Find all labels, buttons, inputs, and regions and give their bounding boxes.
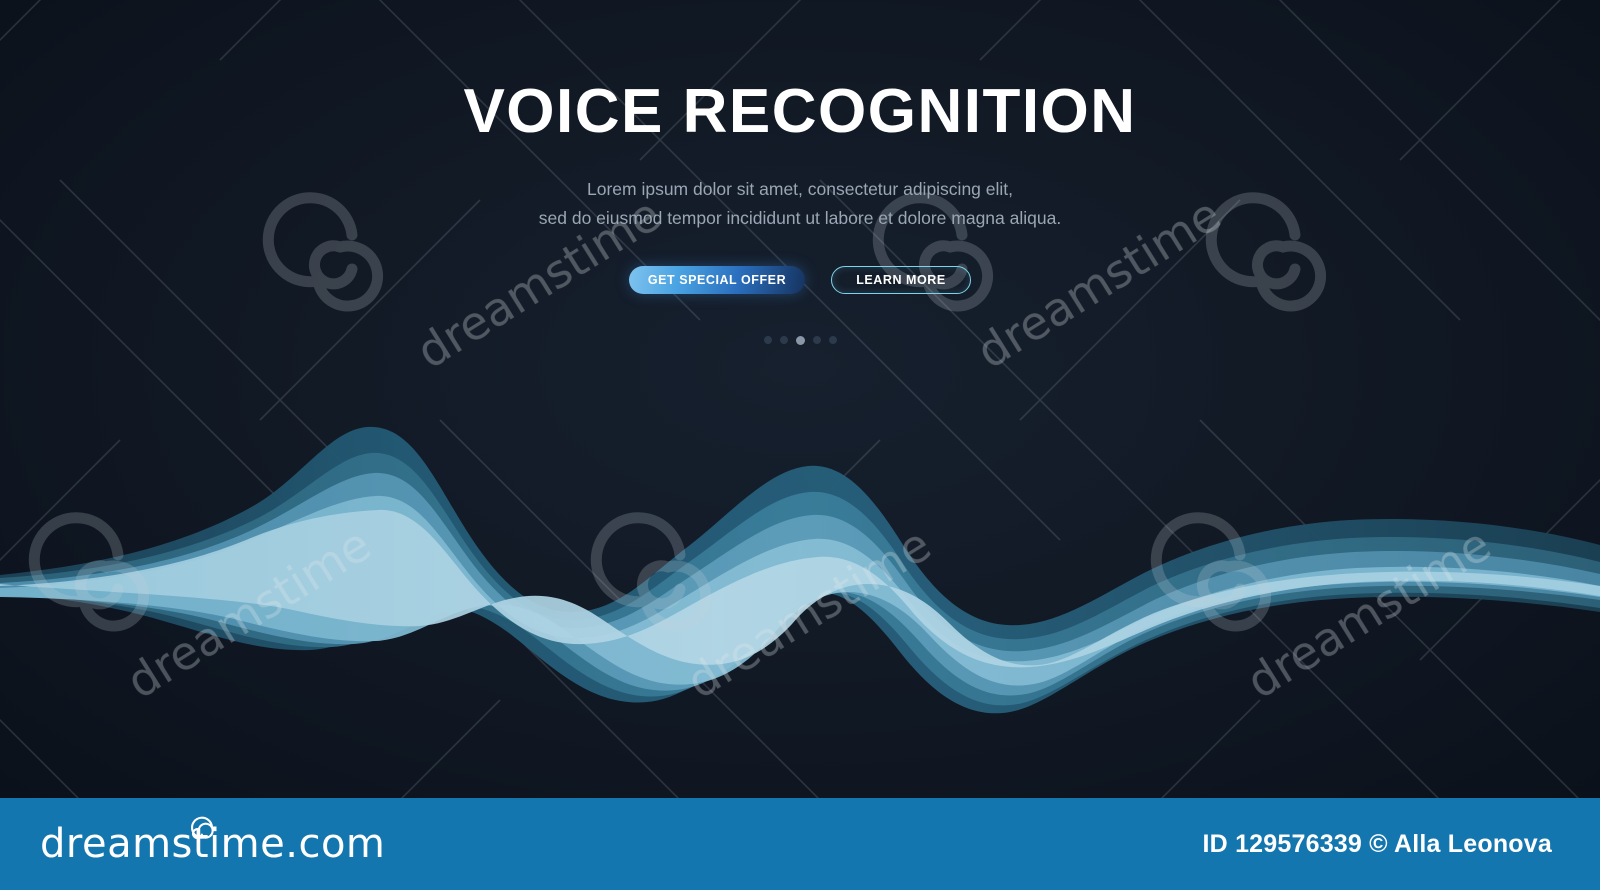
dreamstime-logo[interactable]: dreamstime.com — [40, 821, 385, 867]
hero-subtitle: Lorem ipsum dolor sit amet, consectetur … — [0, 175, 1600, 232]
carousel-dot-2[interactable] — [780, 336, 788, 344]
get-special-offer-button[interactable]: GET SPECIAL OFFER — [629, 266, 805, 294]
carousel-dot-1[interactable] — [764, 336, 772, 344]
hero-section: dreamstime dreamstime dreamstime dreamst… — [0, 0, 1600, 798]
wave-layer-back — [0, 427, 1600, 713]
watermark-text: dreamstime — [677, 517, 940, 709]
carousel-dots — [0, 336, 1600, 345]
watermark-text: dreamstime — [1237, 517, 1500, 709]
wave-layer-mid-dark — [0, 453, 1600, 705]
wave-layer-light — [0, 496, 1600, 686]
hero-copy: VOICE RECOGNITION Lorem ipsum dolor sit … — [0, 0, 1600, 345]
carousel-dot-4[interactable] — [813, 336, 821, 344]
image-credit: ID 129576339 © Alla Leonova — [1203, 830, 1552, 859]
carousel-dot-5[interactable] — [829, 336, 837, 344]
carousel-dot-3[interactable] — [796, 336, 805, 345]
image-canvas: dreamstime dreamstime dreamstime dreamst… — [0, 0, 1600, 890]
watermark-text: dreamstime — [117, 517, 380, 709]
subtitle-line-1: Lorem ipsum dolor sit amet, consectetur … — [587, 179, 1013, 199]
wave-layer-mid — [0, 473, 1600, 696]
wave-layer-highlight — [0, 510, 1600, 667]
learn-more-button[interactable]: LEARN MORE — [831, 266, 971, 294]
subtitle-line-2: sed do eiusmod tempor incididunt ut labo… — [539, 208, 1061, 228]
hero-actions: GET SPECIAL OFFER LEARN MORE — [0, 266, 1600, 294]
stock-footer-bar: dreamstime.com ID 129576339 © Alla Leono… — [0, 798, 1600, 890]
spiral-icon — [190, 815, 216, 841]
page-title: VOICE RECOGNITION — [0, 80, 1600, 143]
